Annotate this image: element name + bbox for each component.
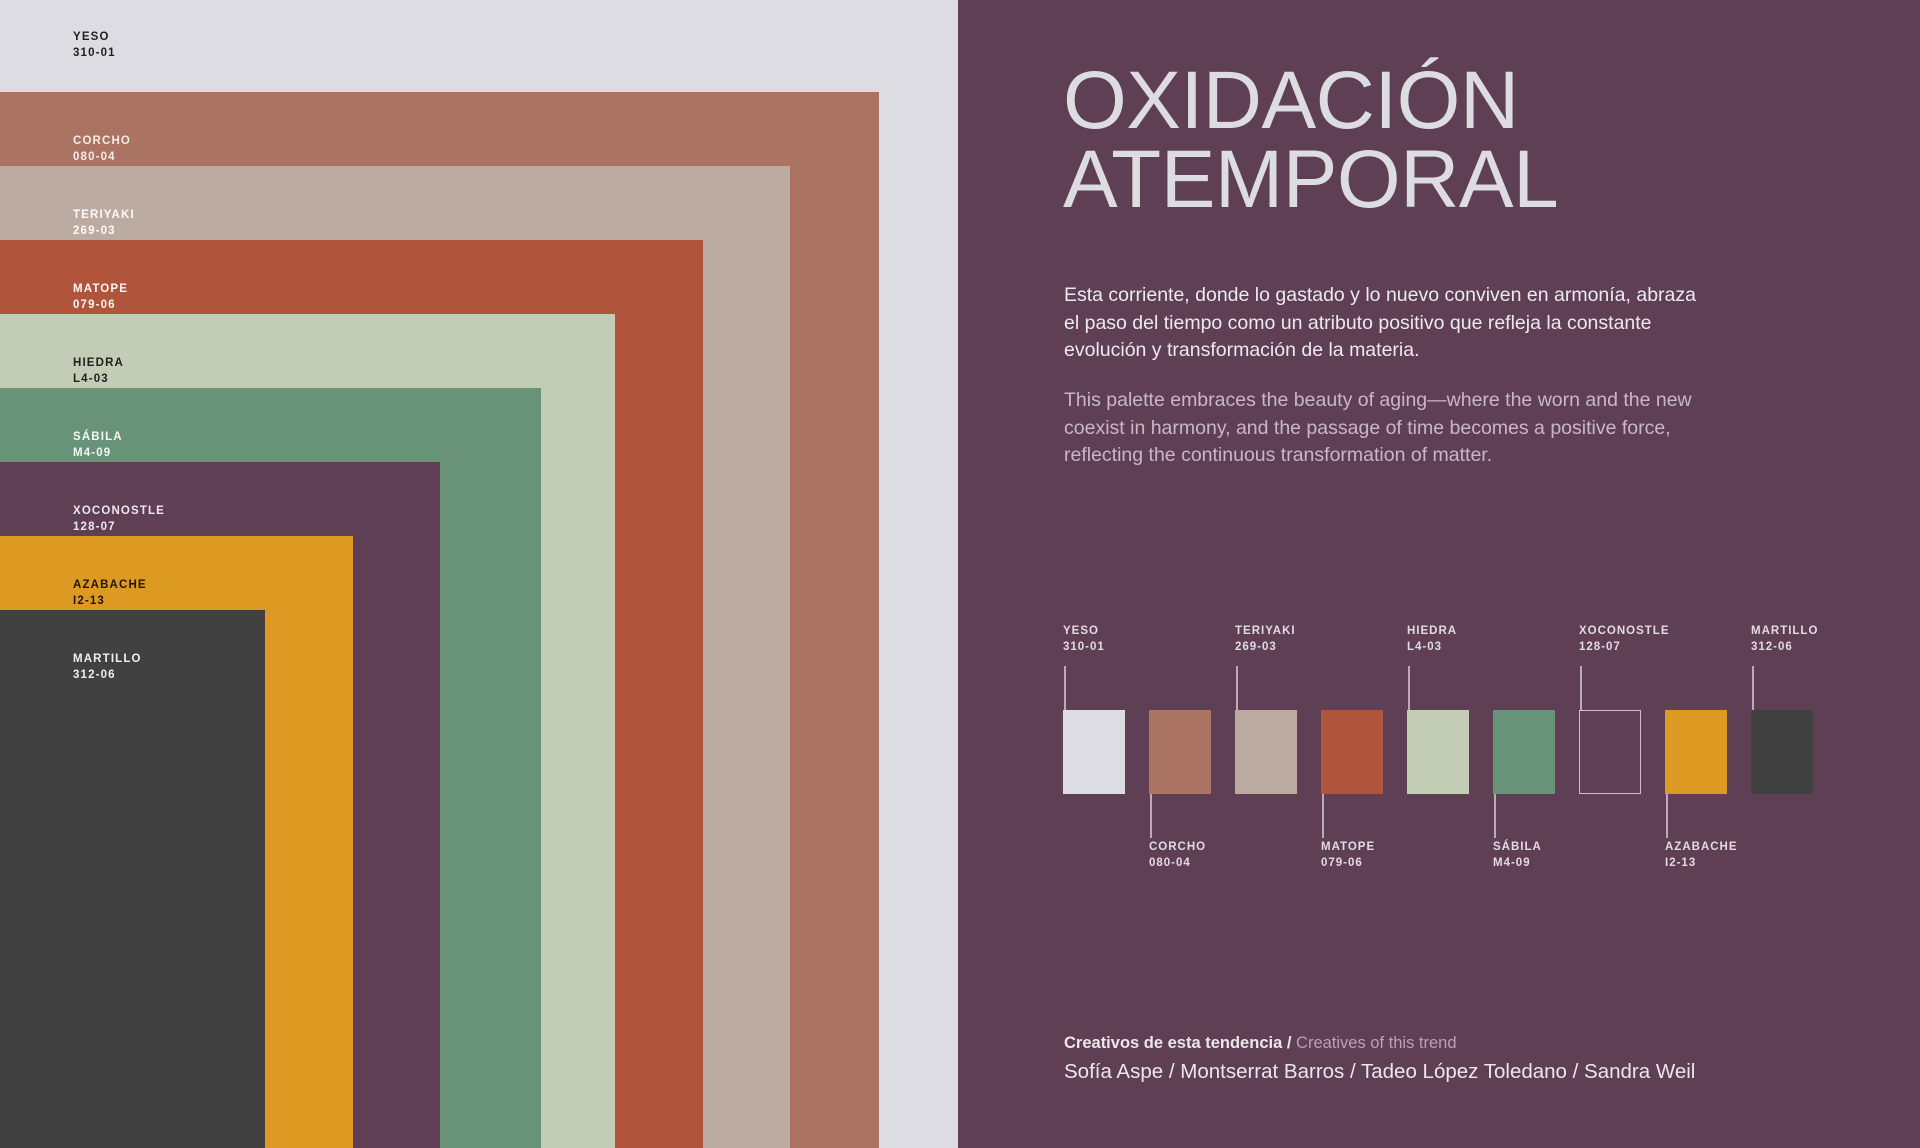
credits-separator: / [1282, 1034, 1296, 1052]
swatch-matope[interactable] [1321, 710, 1383, 794]
swatch-hiedra[interactable] [1407, 710, 1469, 794]
swatch-column-yeso[interactable]: YESO 310-01 [1063, 622, 1135, 852]
swatch-column-hiedra[interactable]: HIEDRA L4-03 [1407, 622, 1479, 852]
leader-line-teriyaki [1236, 666, 1238, 710]
frame-label-martillo: MARTILLO 312-06 [73, 652, 142, 684]
swatch-yeso[interactable] [1063, 710, 1125, 794]
frame-label-corcho: CORCHO 080-04 [73, 134, 131, 166]
leader-line-yeso [1064, 666, 1066, 710]
leader-line-matope [1322, 794, 1324, 838]
frame-label-xoconostle: XOCONOSTLE 128-07 [73, 504, 165, 536]
leader-line-sábila [1494, 794, 1496, 838]
swatch-column-teriyaki[interactable]: TERIYAKI 269-03 [1235, 622, 1307, 852]
swatch-label-martillo: MARTILLO 312-06 [1751, 624, 1818, 656]
swatch-column-azabache[interactable]: AZABACHE I2-13 [1665, 622, 1737, 852]
frame-label-azabache: AZABACHE I2-13 [73, 578, 147, 610]
poster-canvas: YESO 310-01CORCHO 080-04TERIYAKI 269-03M… [0, 0, 1920, 1148]
swatch-azabache[interactable] [1665, 710, 1727, 794]
frame-label-sábila: SÁBILA M4-09 [73, 430, 123, 462]
color-swatch-strip: YESO 310-01CORCHO 080-04TERIYAKI 269-03M… [958, 622, 1920, 852]
swatch-column-xoconostle[interactable]: XOCONOSTLE 128-07 [1579, 622, 1651, 852]
leader-line-xoconostle [1580, 666, 1582, 710]
swatch-label-hiedra: HIEDRA L4-03 [1407, 624, 1457, 656]
swatch-column-martillo[interactable]: MARTILLO 312-06 [1751, 622, 1823, 852]
swatch-label-corcho: CORCHO 080-04 [1149, 840, 1206, 872]
frame-label-hiedra: HIEDRA L4-03 [73, 356, 124, 388]
swatch-label-yeso: YESO 310-01 [1063, 624, 1105, 656]
description-english: This palette embraces the beauty of agin… [1064, 387, 1809, 470]
swatch-teriyaki[interactable] [1235, 710, 1297, 794]
swatch-column-matope[interactable]: MATOPE 079-06 [1321, 622, 1393, 852]
swatch-martillo[interactable] [1751, 710, 1813, 794]
swatch-corcho[interactable] [1149, 710, 1211, 794]
swatch-column-corcho[interactable]: CORCHO 080-04 [1149, 622, 1221, 852]
page-title: OXIDACIÓN ATEMPORAL [1063, 62, 1558, 219]
swatch-label-matope: MATOPE 079-06 [1321, 840, 1375, 872]
swatch-column-sábila[interactable]: SÁBILA M4-09 [1493, 622, 1565, 852]
swatch-xoconostle[interactable] [1579, 710, 1641, 794]
credits-names: Sofía Aspe / Montserrat Barros / Tadeo L… [1064, 1057, 1695, 1088]
description-spanish: Esta corriente, donde lo gastado y lo nu… [1064, 282, 1809, 365]
color-frame-martillo: MARTILLO 312-06 [0, 610, 265, 1148]
frame-label-yeso: YESO 310-01 [73, 30, 116, 62]
swatch-label-teriyaki: TERIYAKI 269-03 [1235, 624, 1296, 656]
leader-line-hiedra [1408, 666, 1410, 710]
swatch-sábila[interactable] [1493, 710, 1555, 794]
frame-label-teriyaki: TERIYAKI 269-03 [73, 208, 135, 240]
editorial-panel: OXIDACIÓN ATEMPORAL Esta corriente, dond… [958, 0, 1920, 1148]
frame-label-matope: MATOPE 079-06 [73, 282, 128, 314]
credits-footer: Creativos de esta tendencia / Creatives … [1064, 1031, 1695, 1089]
credits-heading: Creativos de esta tendencia / Creatives … [1064, 1031, 1695, 1056]
leader-line-martillo [1752, 666, 1754, 710]
leader-line-corcho [1150, 794, 1152, 838]
leader-line-azabache [1666, 794, 1668, 838]
nested-color-frames-panel: YESO 310-01CORCHO 080-04TERIYAKI 269-03M… [0, 0, 958, 1148]
swatch-label-azabache: AZABACHE I2-13 [1665, 840, 1738, 872]
credits-label-spanish: Creativos de esta tendencia [1064, 1034, 1282, 1052]
swatch-label-sábila: SÁBILA M4-09 [1493, 840, 1542, 872]
swatch-label-xoconostle: XOCONOSTLE 128-07 [1579, 624, 1670, 656]
credits-label-english: Creatives of this trend [1296, 1034, 1457, 1052]
